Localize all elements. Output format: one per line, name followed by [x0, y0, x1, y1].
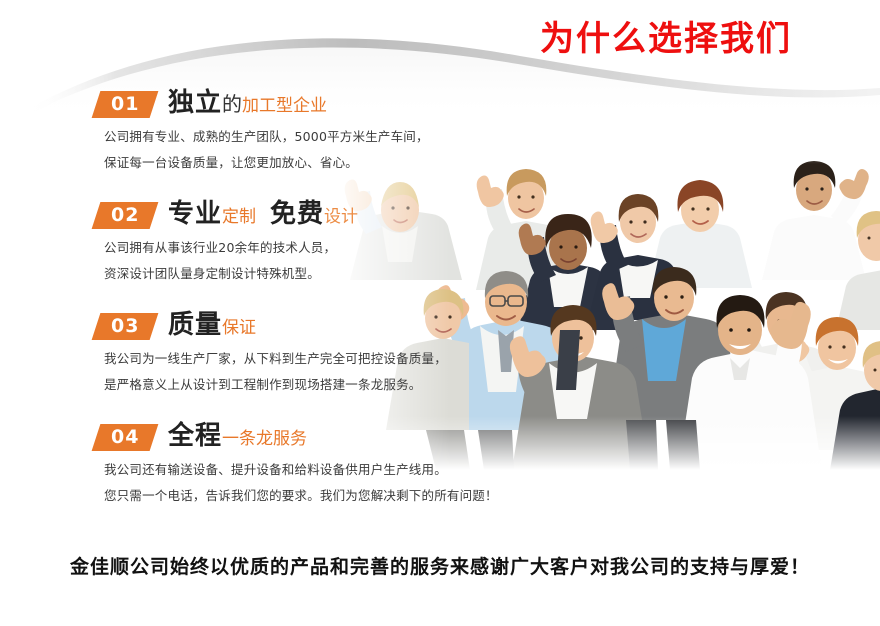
feature-body-line: 我公司还有输送设备、提升设备和给料设备供用户生产线用。	[104, 460, 470, 480]
feature-title-part: 一条龙服务	[222, 429, 307, 449]
feature-body-03: 我公司为一线生产厂家，从下料到生产完全可把控设备质量， 是严格意义上从设计到工程…	[104, 349, 470, 395]
feature-number-02: 02	[111, 206, 139, 225]
feature-number-badge-01: 01	[92, 91, 159, 118]
feature-item-02: 02 专业定制免费设计 公司拥有从事该行业20余年的技术人员， 资深设计团队量身…	[0, 199, 470, 284]
feature-title-part: 加工型企业	[242, 96, 327, 116]
feature-item-01: 01 独立的加工型企业 公司拥有专业、成熟的生产团队，5000平方米生产车间， …	[0, 88, 470, 173]
feature-number-04: 04	[111, 428, 139, 447]
feature-body-line: 公司拥有专业、成熟的生产团队，5000平方米生产车间，	[104, 127, 470, 147]
feature-title-part: 的	[222, 92, 242, 116]
feature-number-badge-04: 04	[92, 424, 159, 451]
feature-title-01: 独立的加工型企业	[168, 88, 470, 120]
feature-body-04: 我公司还有输送设备、提升设备和给料设备供用户生产线用。 您只需一个电话，告诉我们…	[104, 460, 470, 506]
feature-body-line: 我公司为一线生产厂家，从下料到生产完全可把控设备质量，	[104, 349, 470, 369]
feature-title-part: 保证	[222, 318, 256, 338]
feature-body-02: 公司拥有从事该行业20余年的技术人员， 资深设计团队量身定制设计特殊机型。	[104, 238, 470, 284]
feature-title-part: 定制	[222, 207, 256, 227]
feature-body-line: 是严格意义上从设计到工程制作到现场搭建一条龙服务。	[104, 375, 470, 395]
feature-number-badge-03: 03	[92, 313, 159, 340]
feature-body-01: 公司拥有专业、成熟的生产团队，5000平方米生产车间， 保证每一台设备质量，让您…	[104, 127, 470, 173]
feature-body-line: 您只需一个电话，告诉我们您的要求。我们为您解决剩下的所有问题！	[104, 486, 470, 506]
feature-title-02: 专业定制免费设计	[168, 199, 470, 231]
footer-slogan: 金佳顺公司始终以优质的产品和完善的服务来感谢广大客户对我公司的支持与厚爱！	[0, 552, 880, 579]
feature-number-badge-02: 02	[92, 202, 159, 229]
feature-title-03: 质量保证	[168, 310, 470, 342]
feature-body-line: 公司拥有从事该行业20余年的技术人员，	[104, 238, 470, 258]
feature-number-01: 01	[111, 95, 139, 114]
feature-title-part: 设计	[324, 207, 358, 227]
promo-page: 为什么选择我们	[0, 0, 880, 626]
feature-title-part: 专业	[168, 199, 222, 229]
feature-item-04: 04 全程一条龙服务 我公司还有输送设备、提升设备和给料设备供用户生产线用。 您…	[0, 421, 470, 506]
feature-item-03: 03 质量保证 我公司为一线生产厂家，从下料到生产完全可把控设备质量， 是严格意…	[0, 310, 470, 395]
feature-body-line: 保证每一台设备质量，让您更加放心、省心。	[104, 153, 470, 173]
feature-title-part: 全程	[168, 421, 222, 451]
feature-number-03: 03	[111, 317, 139, 336]
page-title: 为什么选择我们	[540, 22, 792, 56]
feature-title-04: 全程一条龙服务	[168, 421, 470, 453]
feature-body-line: 资深设计团队量身定制设计特殊机型。	[104, 264, 470, 284]
feature-title-part: 免费	[270, 199, 324, 229]
feature-title-part: 独立	[168, 88, 222, 118]
feature-title-part: 质量	[168, 310, 222, 340]
feature-list: 01 独立的加工型企业 公司拥有专业、成熟的生产团队，5000平方米生产车间， …	[0, 88, 470, 532]
